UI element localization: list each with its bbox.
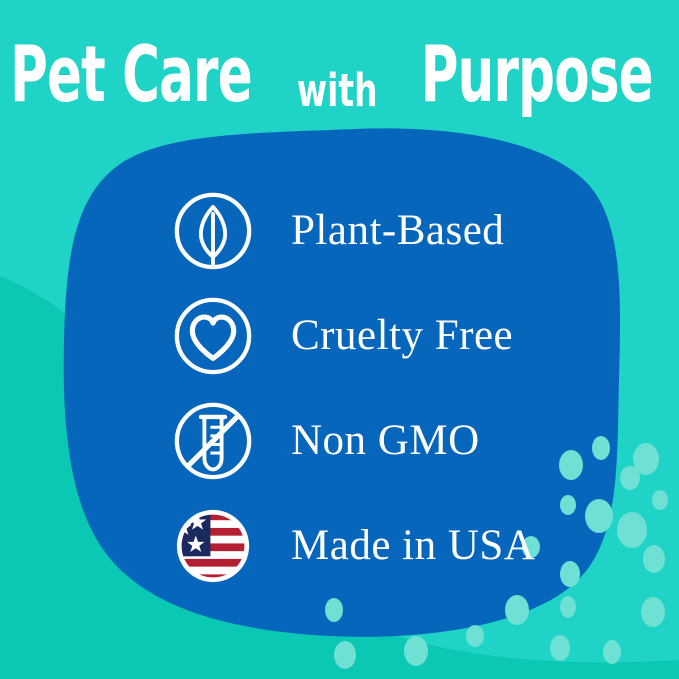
feature-label-made-in-usa: Made in USA [291,524,535,567]
feature-label-plant-based: Plant-Based [291,209,504,252]
feature-label-non-gmo: Non GMO [291,419,480,462]
promo-graphic: Pet Care with Purpose ® Plant-Based Crue… [0,0,679,679]
heart-in-circle-icon [170,293,256,379]
no-test-tube-icon [170,398,256,484]
feature-item-plant-based: Plant-Based [170,178,590,283]
feature-item-non-gmo: Non GMO [170,388,590,493]
feature-label-cruelty-free: Cruelty Free [291,314,513,357]
usa-flag-circle-icon [170,503,256,589]
leaf-in-circle-icon [170,188,256,274]
feature-list: Plant-Based Cruelty Free [170,178,590,598]
feature-item-made-in-usa: Made in USA [170,493,590,598]
feature-item-cruelty-free: Cruelty Free [170,283,590,388]
